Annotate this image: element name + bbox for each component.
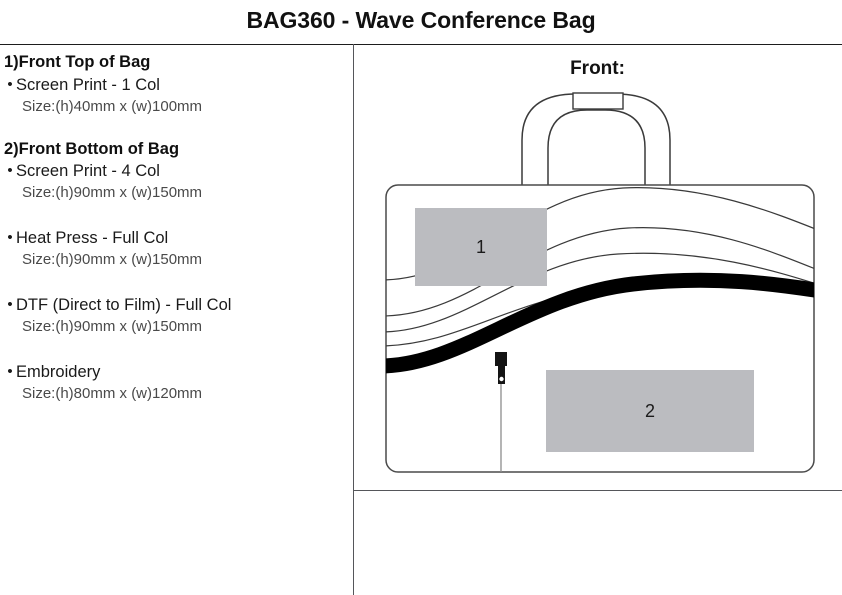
decoration-spec-list: 1)Front Top of Bag •Screen Print - 1 Col…: [4, 52, 344, 418]
spec-option: •Heat Press - Full Col Size:(h)90mm x (w…: [4, 228, 344, 270]
bag-handle-grip: [573, 93, 623, 109]
page-title: BAG360 - Wave Conference Bag: [0, 7, 842, 34]
panel-divider-line: [353, 490, 842, 491]
spec-group-heading: 1)Front Top of Bag: [4, 52, 344, 74]
spec-sheet-page: BAG360 - Wave Conference Bag 1)Front Top…: [0, 0, 842, 595]
spec-option: •DTF (Direct to Film) - Full Col Size:(h…: [4, 295, 344, 337]
spec-option-label: Screen Print - 1 Col: [16, 76, 160, 94]
print-area-number: 1: [476, 237, 486, 258]
front-bottom-print-area[interactable]: 2: [546, 370, 754, 452]
print-area-number: 2: [645, 401, 655, 422]
spec-option-size: Size:(h)90mm x (w)150mm: [4, 183, 344, 203]
spec-option-size: Size:(h)90mm x (w)150mm: [4, 250, 344, 270]
spec-option-name-row: •Screen Print - 4 Col: [4, 161, 344, 183]
bag-handle-inner: [548, 110, 645, 185]
spec-group: 1)Front Top of Bag •Screen Print - 1 Col…: [4, 52, 344, 117]
spec-option-size: Size:(h)80mm x (w)120mm: [4, 384, 344, 404]
spec-option-size: Size:(h)40mm x (w)100mm: [4, 97, 344, 117]
bullet-icon: •: [4, 362, 16, 382]
spec-option-label: Screen Print - 4 Col: [16, 162, 160, 180]
spec-option-name-row: •Embroidery: [4, 362, 344, 384]
front-top-print-area[interactable]: 1: [415, 208, 547, 286]
spec-option: •Screen Print - 1 Col Size:(h)40mm x (w)…: [4, 75, 344, 117]
spec-option-name-row: •DTF (Direct to Film) - Full Col: [4, 295, 344, 317]
spec-group: 2)Front Bottom of Bag •Screen Print - 4 …: [4, 139, 344, 404]
spec-option-label: DTF (Direct to Film) - Full Col: [16, 296, 231, 314]
spec-group-heading: 2)Front Bottom of Bag: [4, 139, 344, 161]
spec-option-size: Size:(h)90mm x (w)150mm: [4, 317, 344, 337]
bullet-icon: •: [4, 295, 16, 315]
bullet-icon: •: [4, 75, 16, 95]
spec-option-name-row: •Screen Print - 1 Col: [4, 75, 344, 97]
spec-option-label: Heat Press - Full Col: [16, 229, 168, 247]
spec-option: •Embroidery Size:(h)80mm x (w)120mm: [4, 362, 344, 404]
bullet-icon: •: [4, 228, 16, 248]
bullet-icon: •: [4, 161, 16, 181]
spec-option-name-row: •Heat Press - Full Col: [4, 228, 344, 250]
spec-option: •Screen Print - 4 Col Size:(h)90mm x (w)…: [4, 161, 344, 203]
spec-option-label: Embroidery: [16, 363, 100, 381]
